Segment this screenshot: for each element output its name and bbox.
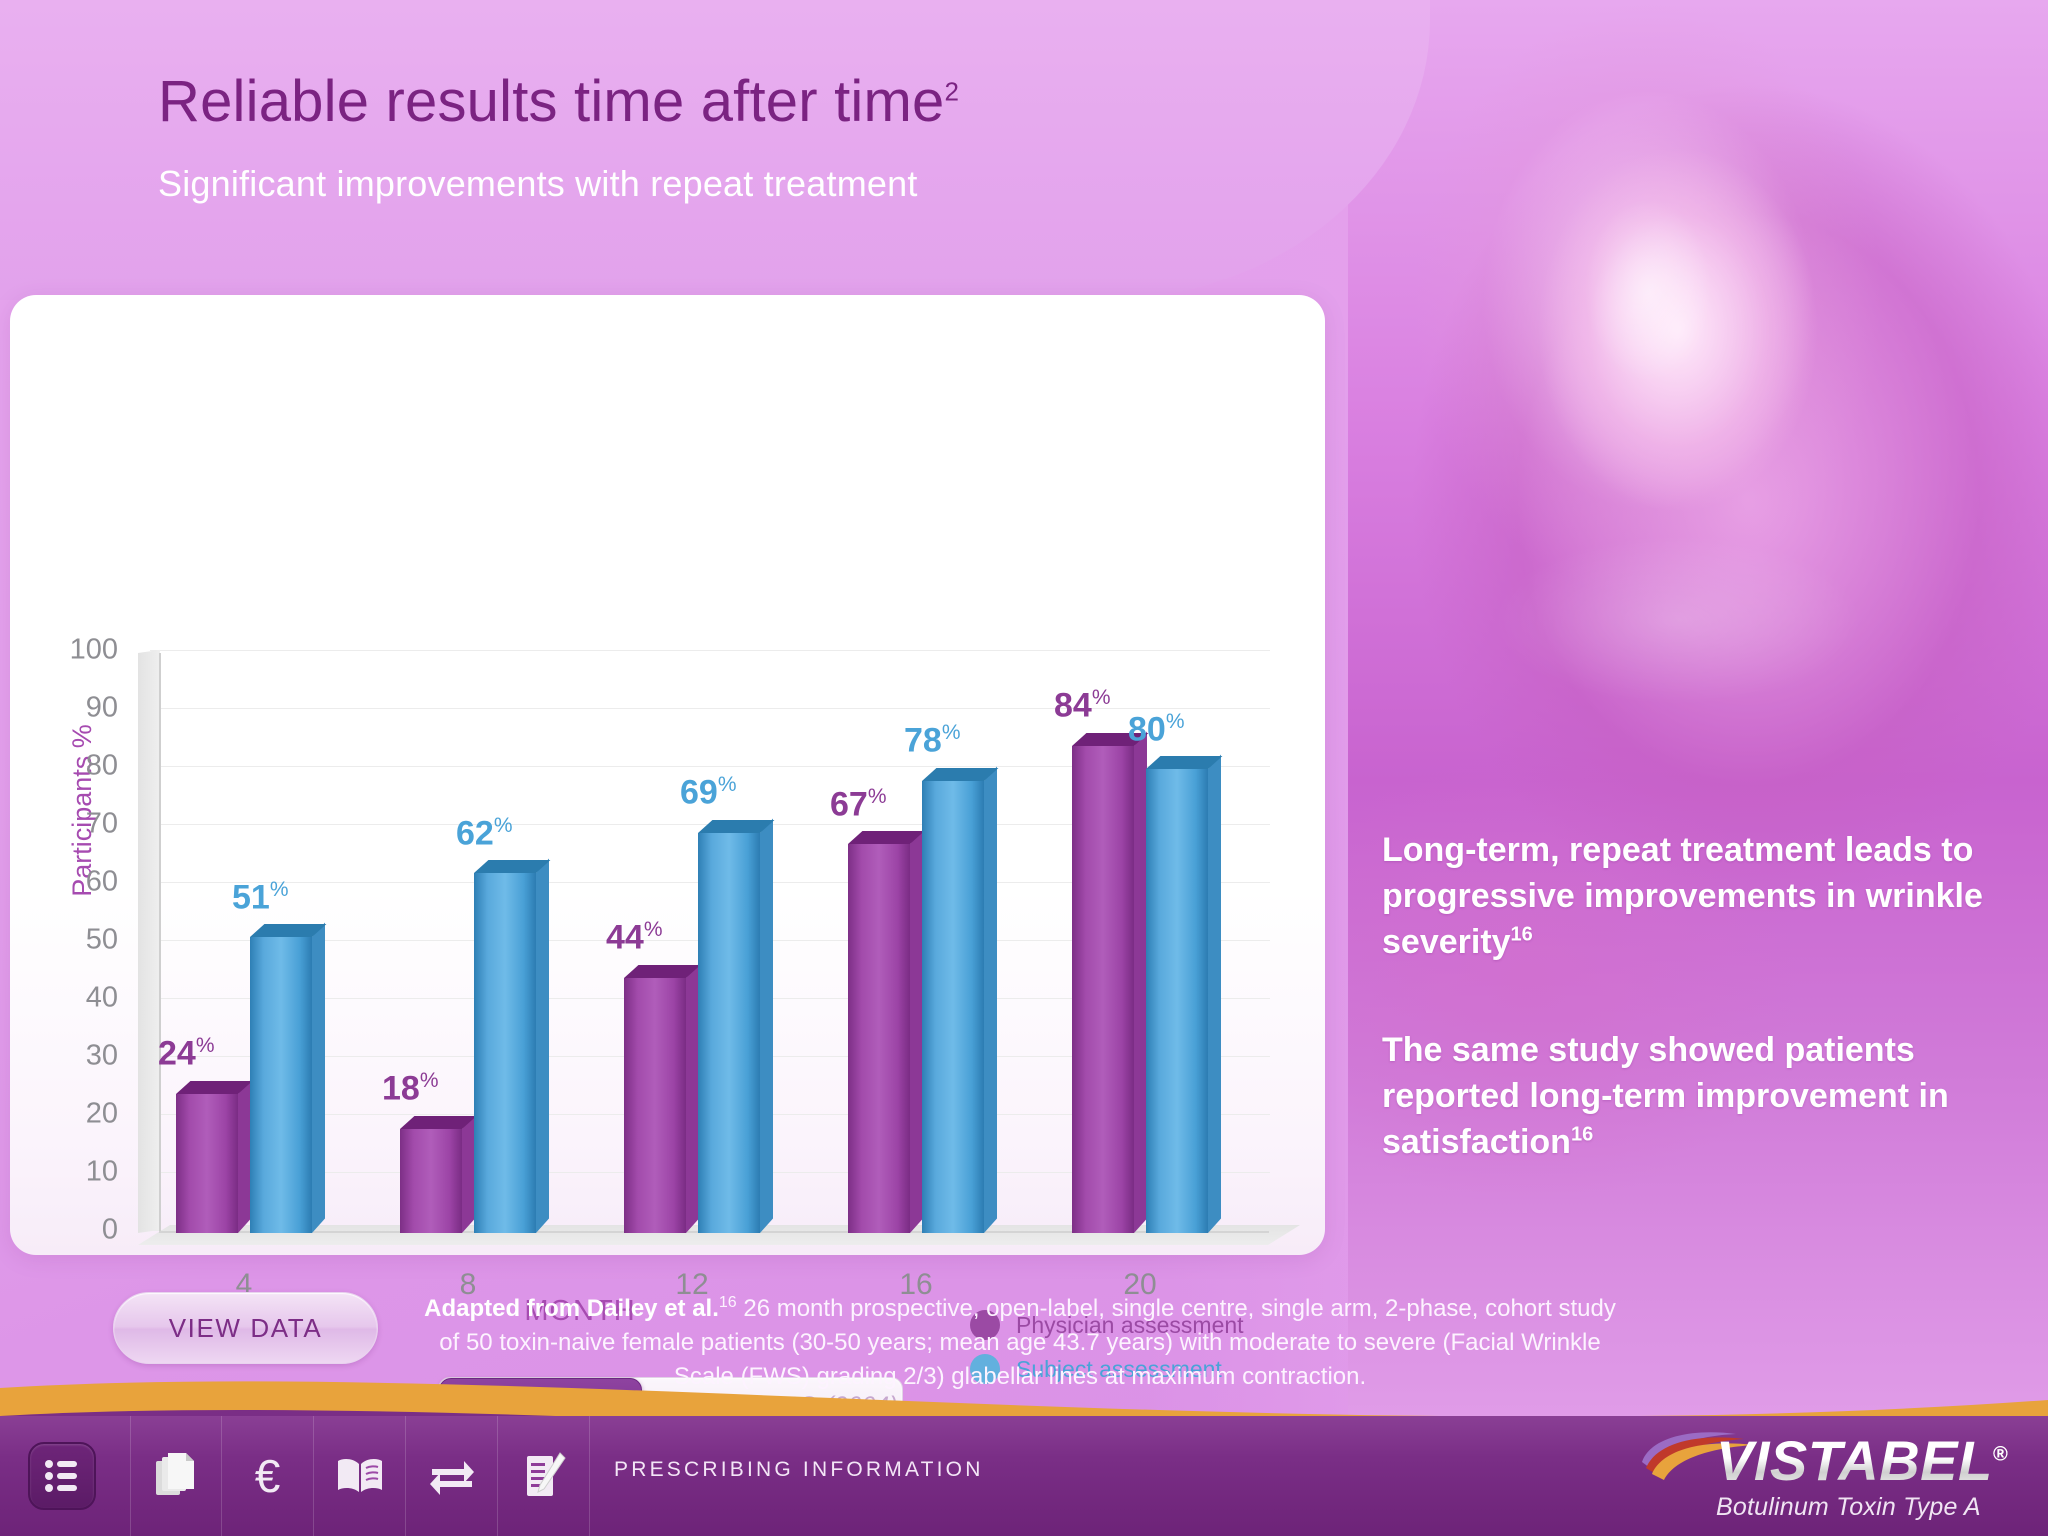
y-tick-label: 60	[48, 866, 118, 899]
y-tick-label: 10	[48, 1156, 118, 1189]
percent-sign: %	[868, 785, 887, 808]
bar-purple	[624, 978, 686, 1233]
percent-sign: %	[420, 1069, 439, 1092]
toolbar-icons: €	[130, 1416, 590, 1536]
bar-value: 84	[1054, 687, 1092, 725]
bar-value-label: 44%	[606, 918, 663, 957]
bar-value-label: 80%	[1128, 710, 1185, 749]
bar-value-label: 67%	[830, 785, 887, 824]
toolbar-item-book[interactable]	[314, 1416, 406, 1536]
bar-blue	[250, 937, 312, 1233]
slide-root: Reliable results time after time2 Signif…	[0, 0, 2048, 1536]
callout-wrinkle-severity: Long-term, repeat treatment leads to pro…	[1382, 828, 2002, 966]
bar-face	[624, 978, 686, 1233]
logo-word-text: VISTABEL	[1716, 1429, 1993, 1492]
bar-purple	[848, 844, 910, 1233]
bar-value: 44	[606, 919, 644, 957]
bar-face	[1146, 769, 1208, 1233]
bar-purple	[1072, 746, 1134, 1233]
y-tick-label: 50	[48, 924, 118, 957]
list-menu-icon	[43, 1459, 81, 1493]
bar-group: 24%51%	[176, 650, 376, 1233]
bar-value-label: 84%	[1054, 686, 1111, 725]
percent-sign: %	[1166, 710, 1185, 733]
chart-plot-area: Participants % 1009080706050403020100 24…	[10, 295, 1325, 1255]
page-title-superscript: 2	[944, 77, 959, 107]
page-subtitle: Significant improvements with repeat tre…	[158, 163, 918, 205]
y-tick-label: 80	[48, 750, 118, 783]
y-tick-label: 20	[48, 1098, 118, 1131]
y-tick-label: 100	[48, 634, 118, 667]
bar-value-label: 69%	[680, 773, 737, 812]
bar-blue	[1146, 769, 1208, 1233]
bar-value: 80	[1128, 710, 1166, 748]
y-tick-label: 30	[48, 1040, 118, 1073]
bar-face	[848, 844, 910, 1233]
callout-2-superscript: 16	[1571, 1123, 1593, 1145]
callout-1-text: Long-term, repeat treatment leads to pro…	[1382, 831, 1983, 961]
bottom-toolbar: €	[0, 1416, 2048, 1536]
callout-2-text: The same study showed patients reported …	[1382, 1031, 1949, 1161]
bar-blue	[922, 781, 984, 1233]
toolbar-item-price[interactable]: €	[222, 1416, 314, 1536]
bar-value: 24	[158, 1035, 196, 1073]
vistabel-logo: VISTABEL® Botulinum Toxin Type A	[1716, 1433, 2008, 1522]
bar-purple	[400, 1129, 462, 1233]
menu-button[interactable]	[28, 1442, 96, 1510]
bar-group: 67%78%	[848, 650, 1048, 1233]
notepad-pencil-icon	[522, 1451, 566, 1501]
book-icon	[335, 1456, 385, 1496]
bar-value: 18	[382, 1070, 420, 1108]
y-tick-label: 40	[48, 982, 118, 1015]
percent-sign: %	[270, 878, 289, 901]
bar-value-label: 78%	[904, 721, 961, 760]
header-band	[0, 0, 1430, 300]
logo-tagline: Botulinum Toxin Type A	[1716, 1493, 2008, 1522]
bar-side-3d	[1208, 755, 1221, 1233]
bar-face	[698, 833, 760, 1233]
bar-value-label: 62%	[456, 814, 513, 853]
percent-sign: %	[1092, 686, 1111, 709]
page-title: Reliable results time after time2	[158, 68, 959, 135]
toolbar-item-documents[interactable]	[130, 1416, 222, 1536]
percent-sign: %	[942, 721, 961, 744]
percent-sign: %	[494, 814, 513, 837]
bar-face	[250, 937, 312, 1233]
toolbar-item-compare[interactable]	[406, 1416, 498, 1536]
bar-face	[474, 873, 536, 1233]
percent-sign: %	[718, 773, 737, 796]
euro-icon: €	[255, 1449, 281, 1503]
percent-sign: %	[196, 1034, 215, 1057]
model-photo	[1348, 0, 2048, 1420]
bar-face	[1072, 746, 1134, 1233]
bar-side-3d	[984, 766, 997, 1233]
bar-group: 84%80%	[1072, 650, 1272, 1233]
bar-value: 51	[232, 878, 270, 916]
bar-value: 67	[830, 785, 868, 823]
bar-face	[922, 781, 984, 1233]
prescribing-information-link[interactable]: PRESCRIBING INFORMATION	[614, 1458, 984, 1482]
toolbar-item-notes[interactable]	[498, 1416, 590, 1536]
chart-card: Participants % 1009080706050403020100 24…	[10, 295, 1325, 1255]
transfer-arrows-icon	[428, 1456, 476, 1496]
footnote-superscript: 16	[719, 1294, 737, 1311]
bar-blue	[698, 833, 760, 1233]
bar-value: 69	[680, 774, 718, 812]
view-data-button[interactable]: VIEW DATA	[113, 1292, 378, 1364]
bar-blue	[474, 873, 536, 1233]
bar-value-label: 24%	[158, 1034, 215, 1073]
y-axis-ticks: 1009080706050403020100	[48, 295, 118, 1255]
bar-value: 62	[456, 814, 494, 852]
bar-side-3d	[760, 818, 773, 1233]
bar-purple	[176, 1094, 238, 1233]
logo-wordmark: VISTABEL®	[1716, 1433, 2008, 1489]
bar-side-3d	[536, 859, 549, 1233]
callout-satisfaction: The same study showed patients reported …	[1382, 1028, 2002, 1166]
bar-face	[400, 1129, 462, 1233]
bar-group: 18%62%	[400, 650, 600, 1233]
bar-group: 44%69%	[624, 650, 824, 1233]
page-title-text: Reliable results time after time	[158, 69, 944, 134]
bar-face	[176, 1094, 238, 1233]
chart-bars: 24%51%18%62%44%69%67%78%84%80%	[150, 650, 1270, 1233]
bar-value: 78	[904, 722, 942, 760]
footnote-bold: Adapted from Dailey et al.	[424, 1295, 719, 1322]
y-tick-label: 70	[48, 808, 118, 841]
documents-icon	[154, 1451, 198, 1501]
bar-value-label: 18%	[382, 1069, 439, 1108]
logo-registered-mark: ®	[1993, 1443, 2008, 1465]
bar-value-label: 51%	[232, 878, 289, 917]
percent-sign: %	[644, 918, 663, 941]
callout-1-superscript: 16	[1511, 923, 1533, 945]
bar-side-3d	[312, 923, 325, 1233]
y-tick-label: 0	[48, 1214, 118, 1247]
y-tick-label: 90	[48, 692, 118, 725]
